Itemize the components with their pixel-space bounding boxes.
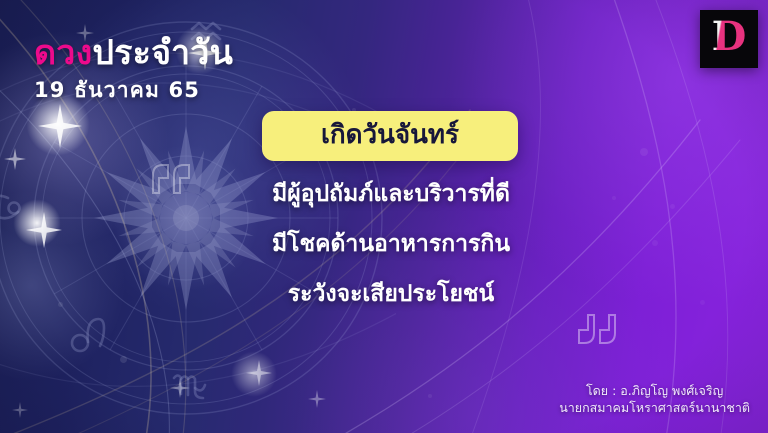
- date-label: 19 ธันวาคม 65: [34, 80, 233, 101]
- horoscope-card: ดวงประจำวัน 19 ธันวาคม 65 เกิดวันจันทร์ …: [0, 0, 768, 433]
- credit-block: โดย : อ.ภิญโญ พงศ์เจริญ นายกสมาคมโหราศาส…: [559, 382, 750, 418]
- brand-logo[interactable]: D: [700, 10, 758, 68]
- birth-day-badge-label: เกิดวันจันทร์: [321, 122, 459, 151]
- page-title: ดวงประจำวัน: [34, 36, 233, 70]
- credit-author: โดย : อ.ภิญโญ พงศ์เจริญ: [559, 382, 750, 400]
- page-title-rest: ประจำวัน: [92, 33, 233, 73]
- credit-title: นายกสมาคมโหราศาสตร์นานาชาติ: [559, 399, 750, 417]
- page-title-highlight: ดวง: [34, 33, 92, 73]
- fortune-line: มีผู้อุปถัมภ์และบริวารที่ดี: [176, 183, 606, 206]
- brand-logo-letter: D: [712, 17, 747, 61]
- birth-day-badge: เกิดวันจันทร์: [262, 111, 518, 161]
- card-content: ดวงประจำวัน 19 ธันวาคม 65 เกิดวันจันทร์ …: [0, 0, 768, 433]
- fortune-line: มีโชคด้านอาหารการกิน: [176, 233, 606, 256]
- title-block: ดวงประจำวัน 19 ธันวาคม 65: [34, 36, 233, 101]
- fortune-lines: มีผู้อุปถัมภ์และบริวารที่ดี มีโชคด้านอาห…: [176, 183, 606, 306]
- fortune-line: ระวังจะเสียประโยชน์: [176, 283, 606, 306]
- close-quote-icon: [576, 312, 618, 346]
